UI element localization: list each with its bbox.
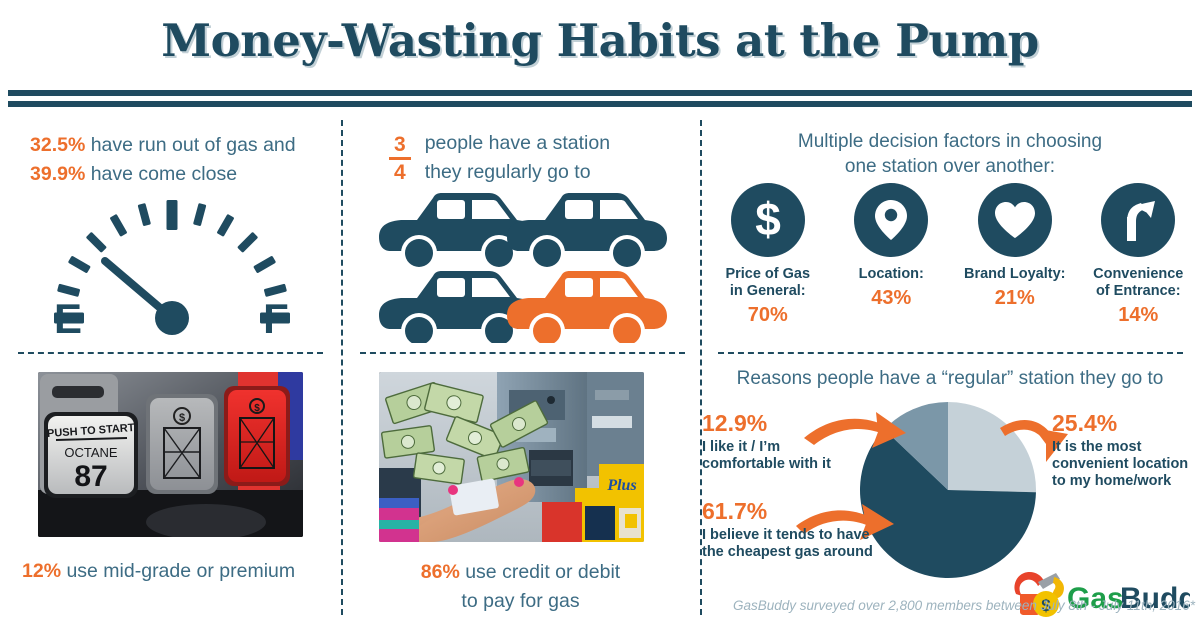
- factor-value-location: 43%: [833, 287, 949, 310]
- factor-label-location-1: Location:: [833, 266, 949, 283]
- factor-label-price-2: in General:: [710, 283, 826, 300]
- factor-value-convenience: 14%: [1080, 304, 1196, 327]
- header-rule-bottom: [8, 101, 1192, 107]
- pie-text-61-7: I believe it tends to have the cheapest …: [702, 527, 877, 561]
- ran-out-text: have run out of gas and: [85, 134, 295, 156]
- car-icon-grid: [377, 191, 667, 348]
- factor-label-price-1: Price of Gas: [710, 266, 826, 283]
- ran-out-of-gas-stats: 32.5% have run out of gas and 39.9% have…: [30, 131, 296, 189]
- infographic-page: Money-Wasting Habits at the Pump 32.5% h…: [0, 0, 1200, 630]
- fuel-grade-panel: PUSH TO START OCTANE 87 $ $ 12% use mid-…: [0, 360, 341, 615]
- payment-method-caption: 86% use credit or debit to pay for gas: [341, 558, 700, 616]
- dollar-sign-icon: $: [731, 183, 805, 257]
- pie-chart-heading: Reasons people have a “regular” station …: [700, 366, 1200, 391]
- credit-debit-text-2: to pay for gas: [341, 587, 700, 616]
- horizontal-divider-col3: [718, 352, 1183, 354]
- factor-label-convenience-2: of Entrance:: [1080, 283, 1196, 300]
- horizontal-divider-col2: [360, 352, 685, 354]
- pump-grade-plus-text: Plus: [606, 477, 636, 494]
- car-icon-2: [507, 193, 667, 271]
- pie-slice-25-4: [948, 402, 1036, 492]
- gasbuddy-logo: $ Gas Buddy: [1010, 568, 1190, 623]
- ran-out-percent: 32.5%: [30, 134, 85, 156]
- page-title: Money-Wasting Habits at the Pump: [0, 14, 1200, 67]
- decision-factors-heading-line1: Multiple decision factors in choosing: [700, 129, 1200, 154]
- horizontal-divider-col1: [18, 352, 323, 354]
- decision-factors-heading-line2: one station over another:: [700, 154, 1200, 179]
- pie-value-12-9: 12.9%: [702, 410, 832, 436]
- factor-label-convenience-1: Convenience: [1080, 266, 1196, 283]
- svg-text:87: 87: [74, 460, 107, 493]
- pie-chart-area: 12.9% I like it / I’m comfortable with i…: [700, 398, 1200, 588]
- hand-inserting-credit-card-at-pump-photo: Plus: [379, 372, 644, 542]
- factor-label-brand-1: Brand Loyalty:: [957, 266, 1073, 283]
- ran-out-of-gas-panel: 32.5% have run out of gas and 39.9% have…: [0, 125, 341, 352]
- credit-debit-text-1: use credit or debit: [460, 561, 620, 583]
- factor-brand-loyalty: Brand Loyalty: 21%: [957, 183, 1073, 310]
- mid-grade-percent: 12%: [22, 560, 61, 582]
- pie-text-12-9: I like it / I’m comfortable with it: [702, 439, 832, 473]
- pie-text-25-4: It is the most convenient location to my…: [1052, 439, 1200, 490]
- factor-location: Location: 43%: [833, 183, 949, 310]
- factor-price-of-gas: $ Price of Gas in General: 70%: [710, 183, 826, 327]
- came-close-text: have come close: [85, 163, 237, 185]
- regular-station-panel: 3 4 people have a station they regularly…: [341, 125, 700, 352]
- svg-text:$: $: [755, 195, 781, 245]
- pie-label-12-9: 12.9% I like it / I’m comfortable with i…: [702, 410, 832, 473]
- fuel-grade-caption: 12% use mid-grade or premium: [22, 557, 295, 586]
- stat-line-1: 32.5% have run out of gas and: [30, 131, 296, 160]
- gas-pump-grade-selector-photo: PUSH TO START OCTANE 87 $ $: [38, 372, 303, 537]
- svg-text:OCTANE: OCTANE: [64, 445, 118, 460]
- road-fork-icon: [1101, 183, 1175, 257]
- header-rule-top: [8, 90, 1192, 96]
- three-quarters-stat: 3 4 people have a station they regularly…: [389, 129, 610, 187]
- mid-grade-text: use mid-grade or premium: [61, 560, 295, 582]
- pie-label-25-4: 25.4% It is the most convenient location…: [1052, 410, 1200, 490]
- decision-factors-list: $ Price of Gas in General: 70% Loc: [706, 183, 1200, 327]
- fraction-denominator: 4: [389, 160, 411, 184]
- pie-value-61-7: 61.7%: [702, 498, 877, 524]
- fraction-icon: 3 4: [389, 133, 411, 184]
- survey-footnote: GasBuddy surveyed over 2,800 members bet…: [700, 598, 1195, 613]
- fraction-caption-line2: they regularly go to: [425, 161, 591, 183]
- gauge-label-full: F: [263, 295, 289, 342]
- factor-value-brand: 21%: [957, 287, 1073, 310]
- fuel-gauge-icon: E F: [42, 183, 302, 348]
- location-pin-icon: [854, 183, 928, 257]
- credit-debit-percent: 86%: [421, 561, 460, 583]
- fraction-caption: people have a station they regularly go …: [425, 129, 610, 187]
- payment-method-panel: Plus: [341, 360, 700, 615]
- fraction-numerator: 3: [389, 133, 411, 160]
- regular-station-reasons-panel: Reasons people have a “regular” station …: [700, 360, 1200, 630]
- decision-factors-panel: Multiple decision factors in choosing on…: [700, 125, 1200, 352]
- decision-factors-heading: Multiple decision factors in choosing on…: [700, 129, 1200, 179]
- pie-value-25-4: 25.4%: [1052, 410, 1200, 436]
- factor-value-price: 70%: [710, 304, 826, 327]
- factor-convenience-of-entrance: Convenience of Entrance: 14%: [1080, 183, 1196, 327]
- svg-text:$: $: [179, 412, 185, 424]
- heart-icon: [978, 183, 1052, 257]
- car-icon-4-highlighted: [507, 271, 667, 343]
- gauge-label-empty: E: [54, 295, 82, 342]
- came-close-percent: 39.9%: [30, 163, 85, 185]
- fraction-caption-line1: people have a station: [425, 132, 610, 154]
- pie-label-61-7: 61.7% I believe it tends to have the che…: [702, 498, 877, 561]
- svg-text:$: $: [254, 403, 260, 414]
